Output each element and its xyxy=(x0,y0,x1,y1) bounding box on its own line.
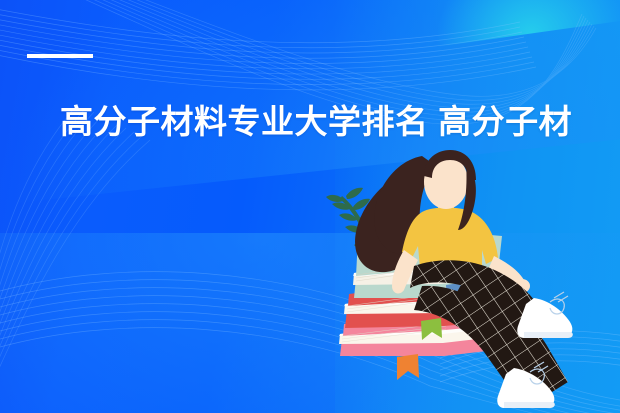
orange-bookmark xyxy=(397,354,419,380)
title-accent-rule xyxy=(27,54,93,58)
hero-illustration xyxy=(318,146,620,413)
page-title: 高分子材料专业大学排名 高分子材 xyxy=(60,100,620,143)
banner: 高分子材料专业大学排名 高分子材 xyxy=(0,0,620,413)
